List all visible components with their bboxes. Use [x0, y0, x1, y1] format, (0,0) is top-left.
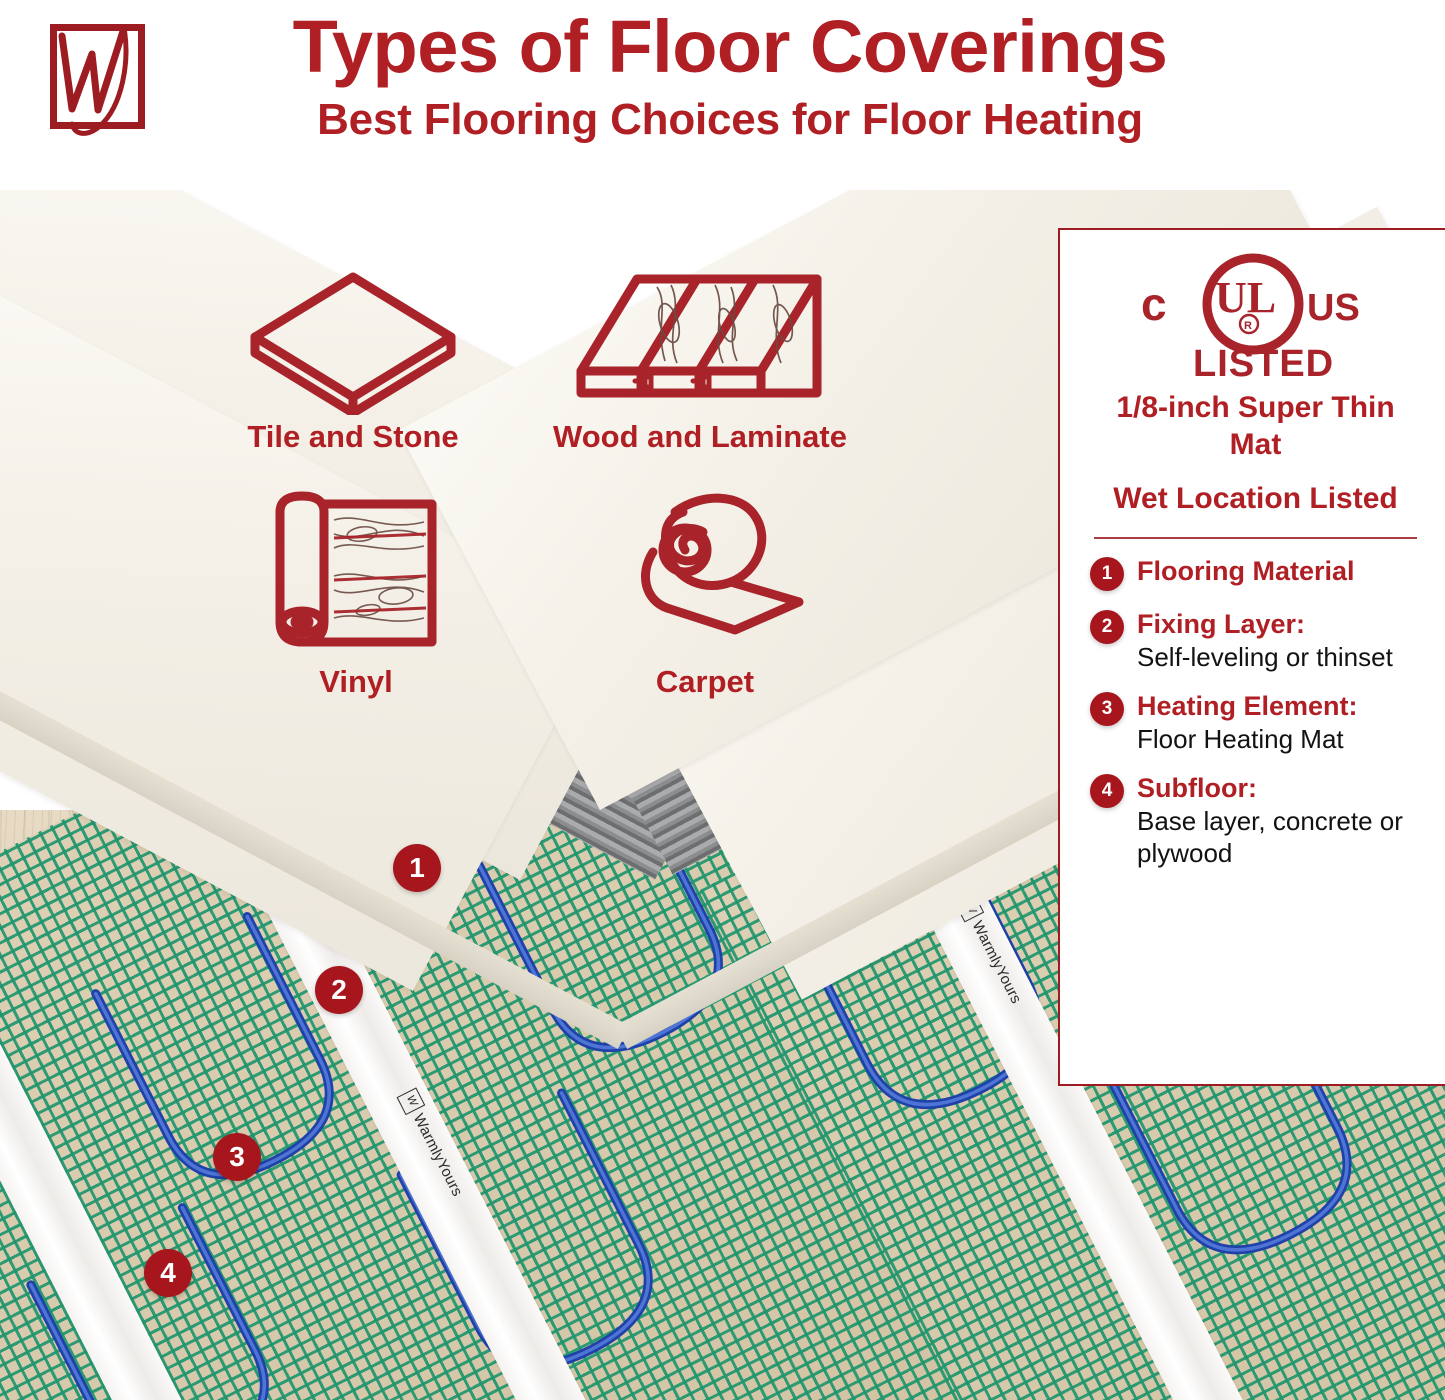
legend-title-2: Fixing Layer:: [1137, 608, 1393, 641]
legend-desc-4: Base layer, concrete or plywood: [1137, 805, 1421, 869]
legend-badge-4-number: 4: [1102, 780, 1113, 802]
photo-callout-3-number: 3: [229, 1141, 245, 1173]
legend-desc-2: Self-leveling or thinset: [1137, 641, 1393, 673]
photo-callout-3: 3: [213, 1133, 261, 1181]
page-title: Types of Floor Coverings: [150, 6, 1310, 88]
photo-callout-2: 2: [315, 966, 363, 1014]
floor-type-carpet: Carpet: [580, 490, 830, 700]
photo-callout-2-number: 2: [331, 974, 347, 1006]
wy-monogram-icon: [38, 14, 156, 144]
floor-type-wood-and-laminate: Wood and Laminate: [530, 265, 870, 455]
ul-mark-c: c: [1141, 278, 1167, 330]
floor-type-label: Carpet: [580, 664, 830, 700]
photo-callout-4: 4: [144, 1249, 192, 1297]
floor-type-vinyl: Vinyl: [236, 490, 476, 700]
legend-item: 4 Subfloor: Base layer, concrete or plyw…: [1090, 772, 1421, 869]
legend-badge-1: 1: [1090, 557, 1124, 591]
svg-text:R: R: [1244, 320, 1252, 332]
ul-claims: 1/8-inch Super Thin Mat Wet Location Lis…: [1090, 389, 1421, 517]
warmlyyours-logo-icon: W: [397, 1087, 426, 1115]
page-subtitle: Best Flooring Choices for Floor Heating: [150, 92, 1310, 148]
legend-badge-1-number: 1: [1102, 563, 1113, 585]
ul-claim-wet-location: Wet Location Listed: [1090, 480, 1421, 517]
tile-slab-icon: [241, 265, 465, 415]
title-block: Types of Floor Coverings Best Flooring C…: [150, 6, 1310, 148]
floor-types-group: Tile and Stone: [0, 255, 1040, 735]
vinyl-roll-icon: [256, 490, 456, 660]
legend-badge-2-number: 2: [1102, 616, 1113, 638]
floor-type-label: Vinyl: [236, 664, 476, 700]
warmlyyours-logo: [38, 14, 156, 144]
ul-mark-listed: LISTED: [1193, 343, 1334, 384]
legend-item: 3 Heating Element: Floor Heating Mat: [1090, 690, 1421, 755]
carpet-roll-icon: [585, 490, 825, 660]
floor-type-label: Wood and Laminate: [530, 419, 870, 455]
legend-badge-3-number: 3: [1102, 698, 1113, 720]
floor-type-tile-and-stone: Tile and Stone: [228, 265, 478, 455]
ul-certification-panel: c UL R US LISTED 1/8-inch Super Thin Mat…: [1058, 228, 1445, 1086]
legend-badge-4: 4: [1090, 774, 1124, 808]
header: Types of Floor Coverings Best Flooring C…: [0, 0, 1445, 200]
wood-plank-icon: [565, 265, 835, 415]
photo-callout-1-number: 1: [409, 852, 425, 884]
floor-type-label: Tile and Stone: [228, 419, 478, 455]
cul-us-listed-icon: c UL R US LISTED: [1131, 252, 1381, 384]
ul-listed-mark: c UL R US LISTED: [1090, 252, 1421, 389]
legend-desc-3: Floor Heating Mat: [1137, 723, 1358, 755]
photo-callout-4-number: 4: [160, 1257, 176, 1289]
ul-claim-thin-mat: 1/8-inch Super Thin Mat: [1090, 389, 1421, 463]
photo-callout-1: 1: [393, 844, 441, 892]
panel-divider: [1094, 537, 1417, 539]
legend-item: 2 Fixing Layer: Self-leveling or thinset: [1090, 608, 1421, 673]
ul-mark-us: US: [1307, 287, 1360, 329]
legend-badge-2: 2: [1090, 610, 1124, 644]
legend-badge-3: 3: [1090, 692, 1124, 726]
layer-legend: 1 Flooring Material 2 Fixing Layer: Self…: [1090, 555, 1421, 869]
legend-title-4: Subfloor:: [1137, 772, 1421, 805]
legend-title-1: Flooring Material: [1137, 555, 1355, 588]
legend-item: 1 Flooring Material: [1090, 555, 1421, 591]
infographic-canvas: W WarmlyYours W WarmlyYours: [0, 0, 1445, 1400]
legend-title-3: Heating Element:: [1137, 690, 1358, 723]
